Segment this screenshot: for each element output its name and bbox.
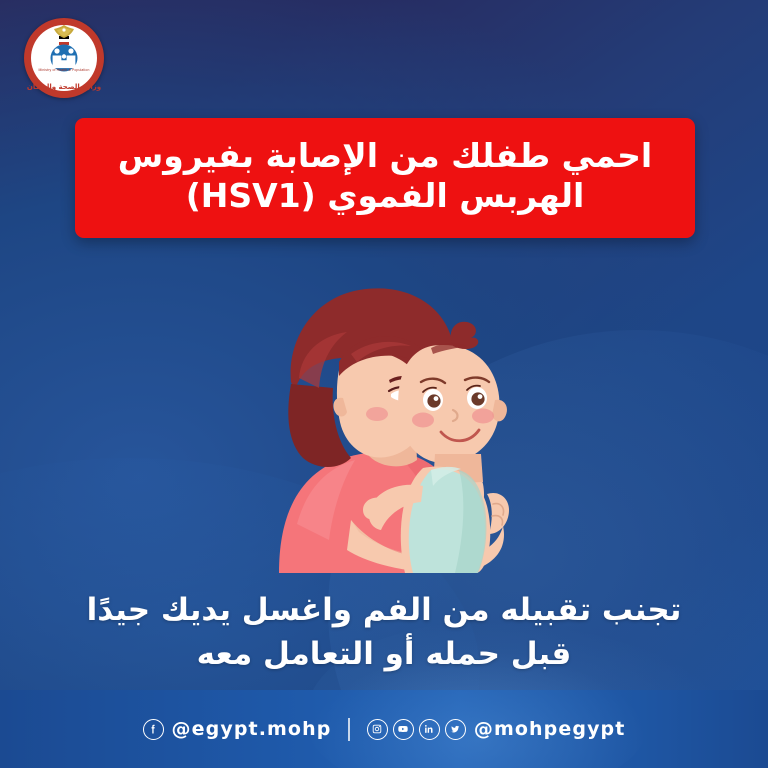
baby-blush-left <box>412 413 434 428</box>
mother-fingers <box>487 493 509 534</box>
ministry-logo: Ministry of Health & Population وزارة ال… <box>24 18 104 98</box>
facebook-handle[interactable]: @egypt.mohp <box>172 718 332 740</box>
advice-line-2: قبل حمله أو التعامل معه <box>70 632 698 676</box>
headline-line-1: احمي طفلك من الإصابة بفيروس <box>118 136 652 176</box>
advice-line-1: تجنب تقبيله من الفم واغسل يديك جيدًا <box>70 588 698 632</box>
logo-arabic-text: وزارة الصحة والسكان <box>24 83 104 91</box>
social-footer-bar: @egypt.mohp <box>0 690 768 768</box>
mother-kissing-baby-illustration <box>255 258 535 573</box>
social-handles-row: @egypt.mohp <box>143 718 626 741</box>
footer-divider <box>348 718 350 741</box>
logo-english-text: Ministry of Health & Population <box>24 68 104 72</box>
facebook-icon[interactable] <box>143 719 164 740</box>
instagram-icon[interactable] <box>367 719 388 740</box>
advice-text: تجنب تقبيله من الفم واغسل يديك جيدًا قبل… <box>0 588 768 676</box>
twitter-icon[interactable] <box>445 719 466 740</box>
headline-line-2: الهربس الفموي (HSV1) <box>186 176 585 216</box>
shared-social-handle[interactable]: @mohpegypt <box>474 718 626 740</box>
headline-banner: احمي طفلك من الإصابة بفيروس الهربس الفمو… <box>75 118 695 238</box>
linkedin-icon[interactable] <box>419 719 440 740</box>
social-icon-group <box>367 719 466 740</box>
baby-eye-left <box>427 394 440 407</box>
mother-blush <box>366 407 388 421</box>
health-awareness-poster: Ministry of Health & Population وزارة ال… <box>0 0 768 768</box>
youtube-icon[interactable] <box>393 719 414 740</box>
baby-blush-right <box>472 409 494 424</box>
eagle-of-saladin-icon <box>49 24 79 46</box>
baby-eye-right <box>471 392 484 405</box>
